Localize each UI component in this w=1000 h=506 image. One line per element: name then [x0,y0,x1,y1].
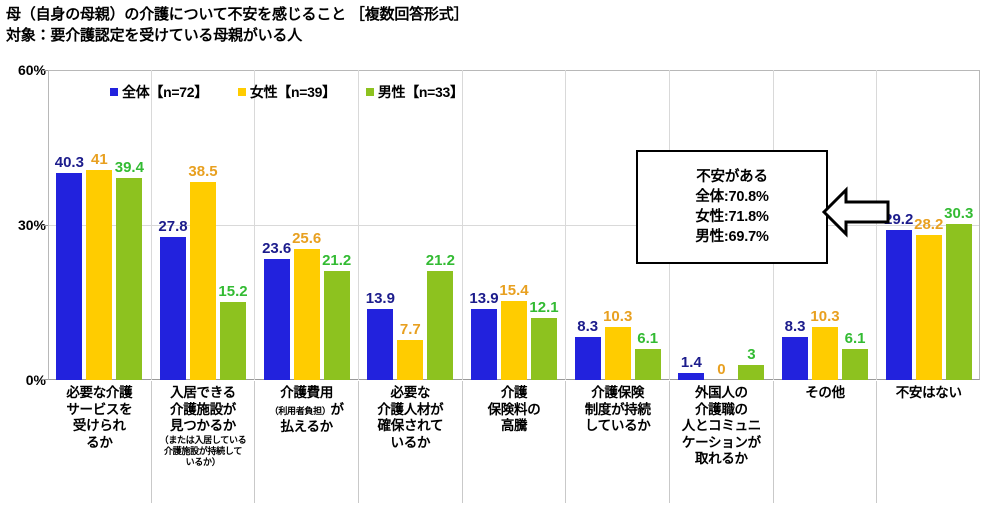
x-label-line-1-0: 入居できる [154,385,253,402]
x-label-line-5-1: 制度が持続 [568,402,667,419]
bar-rect-2-2[interactable] [324,271,350,380]
bar-3-0[interactable]: 13.9 [367,70,393,380]
bar-value-label-0-1: 41 [91,152,108,167]
legend-square-icon [110,88,118,96]
callout-male-value: 男性:69.7% [695,228,768,247]
bar-rect-3-0[interactable] [367,309,393,380]
x-label-line-5-2: しているか [568,418,667,435]
legend-label-2: 男性【n=33】 [378,82,464,102]
x-label-line-0-3: るか [50,435,149,452]
x-label-line-3-3: いるか [361,435,460,452]
bar-value-label-5-0: 8.3 [577,319,598,334]
bar-value-label-4-1: 15.4 [499,283,528,298]
bars-8: 29.228.230.3 [877,70,980,380]
bar-group-8: 29.228.230.3 [877,70,980,380]
x-axis-label-8: 不安はない [877,381,980,503]
legend-label-1: 女性【n=39】 [250,82,336,102]
legend-label-0: 全体【n=72】 [122,82,208,102]
bar-0-0[interactable]: 40.3 [56,70,82,380]
page-title: 母（自身の母親）の介護について不安を感じること ［複数回答形式］ [6,4,986,25]
x-label-inline-sub-2: （利用者負担） [270,406,331,416]
x-axis-label-7: その他 [774,381,878,503]
bar-3-1[interactable]: 7.7 [397,70,423,380]
x-axis-label-4: 介護保険料の高騰 [463,381,567,503]
bar-rect-7-1[interactable] [812,327,838,380]
bars-2: 23.625.621.2 [255,70,358,380]
bar-0-2[interactable]: 39.4 [116,70,142,380]
bar-rect-4-1[interactable] [501,301,527,380]
legend-item-0[interactable]: 全体【n=72】 [110,82,208,102]
x-label-line-3-2: 確保されて [361,418,460,435]
bar-value-label-6-2: 3 [747,347,755,362]
bar-rect-0-1[interactable] [86,170,112,380]
bar-value-label-2-1: 25.6 [292,231,321,246]
legend-item-1[interactable]: 女性【n=39】 [238,82,336,102]
x-axis-label-3: 必要な介護人材が確保されているか [359,381,463,503]
legend-square-icon [366,88,374,96]
chart-legend: 全体【n=72】女性【n=39】男性【n=33】 [110,82,464,102]
bar-group-2: 23.625.621.2 [255,70,359,380]
x-label-inline-tail-2: が [331,402,344,417]
callout-total-value: 全体:70.8% [695,188,768,207]
bar-value-label-4-2: 12.1 [529,300,558,315]
bar-rect-0-0[interactable] [56,173,82,380]
bar-rect-8-1[interactable] [916,235,942,380]
bar-rect-5-1[interactable] [605,327,631,380]
x-label-line-0-0: 必要な介護 [50,385,149,402]
bar-rect-4-0[interactable] [471,309,497,380]
bar-value-label-3-0: 13.9 [366,291,395,306]
bar-rect-8-2[interactable] [946,224,972,380]
bar-8-1[interactable]: 28.2 [916,70,942,380]
legend-item-2[interactable]: 男性【n=33】 [366,82,464,102]
x-label-line-8-0: 不安はない [879,385,978,402]
bar-2-1[interactable]: 25.6 [294,70,320,380]
bar-value-label-0-0: 40.3 [55,155,84,170]
x-label-line-6-0: 外国人の [672,385,771,402]
bar-value-label-8-2: 30.3 [944,206,973,221]
x-label-sub-1-2: いるか） [154,457,253,468]
x-label-line-4-0: 介護 [465,385,564,402]
bar-group-1: 27.838.515.2 [152,70,256,380]
y-axis-tick-60: 60% [2,63,46,77]
bar-rect-1-0[interactable] [160,237,186,380]
bar-5-1[interactable]: 10.3 [605,70,631,380]
x-label-line-2-0: 介護費用 [257,385,356,402]
bar-value-label-7-1: 10.3 [810,309,839,324]
bar-value-label-6-1: 0 [717,362,725,377]
x-label-line-6-2: 人とコミュニ [672,418,771,435]
y-axis-tick-0: 0% [2,373,46,387]
bar-rect-3-2[interactable] [427,271,453,380]
x-label-line-6-1: 介護職の [672,402,771,419]
bar-value-label-6-0: 1.4 [681,355,702,370]
bar-value-label-3-2: 21.2 [426,253,455,268]
bar-1-0[interactable]: 27.8 [160,70,186,380]
bar-rect-2-0[interactable] [264,259,290,380]
chart-title-block: 母（自身の母親）の介護について不安を感じること ［複数回答形式］ 対象：要介護認… [6,4,986,46]
bar-value-label-7-0: 8.3 [785,319,806,334]
bar-5-0[interactable]: 8.3 [575,70,601,380]
bar-4-0[interactable]: 13.9 [471,70,497,380]
callout-heading: 不安がある [696,168,768,187]
bar-rect-5-2[interactable] [635,349,661,380]
bar-rect-6-2[interactable] [738,365,764,380]
bar-value-label-0-2: 39.4 [115,160,144,175]
x-axis-labels: 必要な介護サービスを受けられるか入居できる介護施設が見つかるか（または入居してい… [48,381,980,503]
bar-rect-2-1[interactable] [294,249,320,380]
x-label-line-1-2: 見つかるか [154,418,253,435]
x-label-line-3-1: 介護人材が [361,402,460,419]
x-label-line-0-1: サービスを [50,402,149,419]
left-arrow-icon [822,184,890,240]
x-axis-label-5: 介護保険制度が持続しているか [566,381,670,503]
bar-8-2[interactable]: 30.3 [946,70,972,380]
bar-rect-1-1[interactable] [190,182,216,380]
bar-rect-6-0[interactable] [678,373,704,380]
bar-4-2[interactable]: 12.1 [531,70,557,380]
bar-value-label-3-1: 7.7 [400,322,421,337]
x-axis-label-1: 入居できる介護施設が見つかるか（または入居している介護施設が持続しているか） [152,381,256,503]
bar-2-0[interactable]: 23.6 [264,70,290,380]
x-label-after-2-0: 払えるか [257,419,356,436]
bar-group-3: 13.97.721.2 [359,70,463,380]
x-label-line-4-2: 高騰 [465,418,564,435]
bar-value-label-7-2: 6.1 [845,331,866,346]
x-axis-label-6: 外国人の介護職の人とコミュニケーションが取れるか [670,381,774,503]
bar-rect-5-0[interactable] [575,337,601,380]
bar-rect-7-2[interactable] [842,349,868,380]
bar-3-2[interactable]: 21.2 [427,70,453,380]
bar-rect-1-2[interactable] [220,302,246,380]
y-axis-tick-30: 30% [2,218,46,232]
bar-value-label-1-1: 38.5 [188,164,217,179]
bar-rect-7-0[interactable] [782,337,808,380]
bar-value-label-5-2: 6.1 [637,331,658,346]
bar-rect-3-1[interactable] [397,340,423,380]
bars-3: 13.97.721.2 [359,70,462,380]
bar-1-1[interactable]: 38.5 [190,70,216,380]
bar-2-2[interactable]: 21.2 [324,70,350,380]
bar-group-4: 13.915.412.1 [463,70,567,380]
bars-1: 27.838.515.2 [152,70,255,380]
bar-4-1[interactable]: 15.4 [501,70,527,380]
x-label-inline-2: （利用者負担）が [257,402,356,420]
x-label-line-6-4: 取れるか [672,451,771,468]
bar-rect-0-2[interactable] [116,178,142,380]
bar-rect-8-0[interactable] [886,230,912,380]
bar-value-label-2-0: 23.6 [262,241,291,256]
x-label-line-6-3: ケーションが [672,435,771,452]
bar-value-label-5-1: 10.3 [603,309,632,324]
x-label-line-0-2: 受けられ [50,418,149,435]
x-label-line-7-0: その他 [776,385,875,402]
bar-value-label-1-2: 15.2 [218,284,247,299]
bar-rect-4-2[interactable] [531,318,557,380]
x-axis-label-0: 必要な介護サービスを受けられるか [48,381,152,503]
bar-value-label-1-0: 27.8 [158,219,187,234]
bar-value-label-2-2: 21.2 [322,253,351,268]
bar-0-1[interactable]: 41 [86,70,112,380]
bar-value-label-4-0: 13.9 [469,291,498,306]
callout-box: 不安がある 全体:70.8% 女性:71.8% 男性:69.7% [636,150,828,264]
x-label-line-3-0: 必要な [361,385,460,402]
page-subtitle: 対象：要介護認定を受けている母親がいる人 [6,25,986,46]
bars-0: 40.34139.4 [48,70,151,380]
x-axis-label-2: 介護費用（利用者負担）が払えるか [255,381,359,503]
x-label-line-5-0: 介護保険 [568,385,667,402]
y-axis: 60% 30% 0% [0,70,46,380]
bar-1-2[interactable]: 15.2 [220,70,246,380]
bar-group-0: 40.34139.4 [48,70,152,380]
bars-4: 13.915.412.1 [463,70,566,380]
bar-value-label-8-1: 28.2 [914,217,943,232]
x-label-sub-1-1: 介護施設が持続して [154,446,253,457]
legend-square-icon [238,88,246,96]
x-label-line-1-1: 介護施設が [154,402,253,419]
x-label-line-4-1: 保険料の [465,402,564,419]
x-label-sub-1-0: （または入居している [154,435,253,446]
callout-female-value: 女性:71.8% [695,208,768,227]
